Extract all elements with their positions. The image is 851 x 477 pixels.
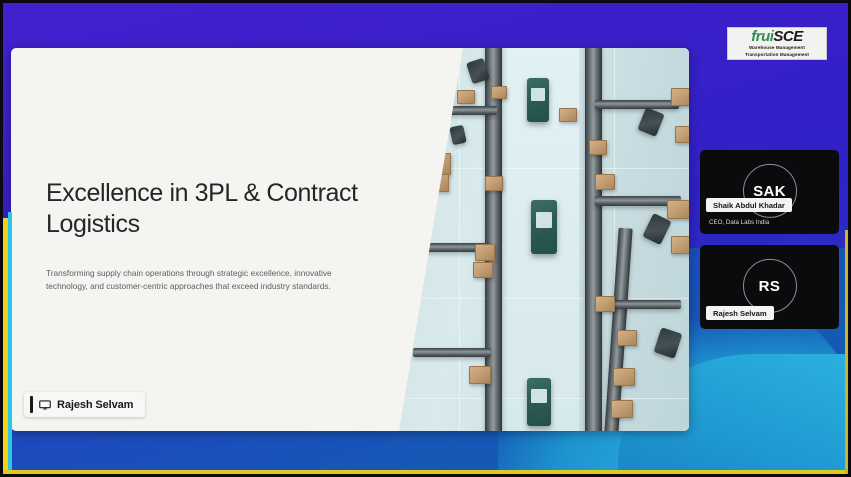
- presenter-name-chip: Rajesh Selvam: [24, 392, 145, 417]
- cardboard-box: [469, 366, 491, 384]
- slide-text-block: Excellence in 3PL & Contract Logistics T…: [46, 178, 386, 302]
- chip-accent-bar: [30, 396, 33, 413]
- cardboard-box: [491, 86, 507, 99]
- cardboard-box: [589, 140, 607, 155]
- slide-photo-warehouse: [399, 48, 689, 431]
- logo-wordmark: fruiSCE: [751, 29, 803, 44]
- cardboard-box: [671, 88, 689, 106]
- slide-subtitle: Transforming supply chain operations thr…: [46, 267, 368, 294]
- presenter-chip-name: Rajesh Selvam: [57, 399, 133, 411]
- conveyor-belt: [595, 100, 679, 109]
- slide-title: Excellence in 3PL & Contract Logistics: [46, 178, 386, 240]
- cardboard-box: [617, 330, 637, 346]
- participant-tile-shaik-abdul-khadar[interactable]: SAK Shaik Abdul Khadar CEO, Data Labs In…: [700, 150, 839, 234]
- screen-share-icon: [39, 399, 51, 411]
- cardboard-box: [667, 200, 689, 219]
- participant-role: CEO, Data Labs India: [709, 219, 769, 226]
- fruisce-logo: fruiSCE Warehouse Management Transportat…: [727, 27, 827, 60]
- participant-tile-rajesh-selvam[interactable]: RS Rajesh Selvam: [700, 245, 839, 329]
- cardboard-box: [485, 176, 503, 191]
- cardboard-box: [611, 400, 633, 418]
- cardboard-box: [457, 90, 475, 104]
- cardboard-box: [473, 262, 493, 278]
- participant-name: Shaik Abdul Khadar: [706, 198, 792, 212]
- floor-grid-line: [399, 298, 689, 299]
- cardboard-box: [595, 296, 615, 312]
- logo-text-frui: frui: [751, 28, 773, 45]
- conveyor-belt: [609, 300, 681, 309]
- avatar: RS: [743, 259, 797, 313]
- cardboard-box: [595, 174, 615, 190]
- shared-slide[interactable]: Excellence in 3PL & Contract Logistics T…: [11, 48, 689, 431]
- cardboard-box: [671, 236, 689, 254]
- cardboard-box: [675, 126, 689, 143]
- logo-text-sce: SCE: [773, 28, 802, 45]
- video-conference-stage: fruiSCE Warehouse Management Transportat…: [0, 0, 851, 477]
- conveyor-belt: [413, 348, 491, 357]
- logo-tagline-line2: Transportation Management: [745, 52, 809, 58]
- automated-guided-vehicle: [531, 200, 557, 254]
- participant-name: Rajesh Selvam: [706, 306, 774, 320]
- automated-guided-vehicle: [527, 78, 549, 122]
- cardboard-box: [613, 368, 635, 386]
- automated-guided-vehicle: [527, 378, 551, 426]
- cardboard-box: [559, 108, 577, 122]
- cardboard-box: [475, 244, 495, 261]
